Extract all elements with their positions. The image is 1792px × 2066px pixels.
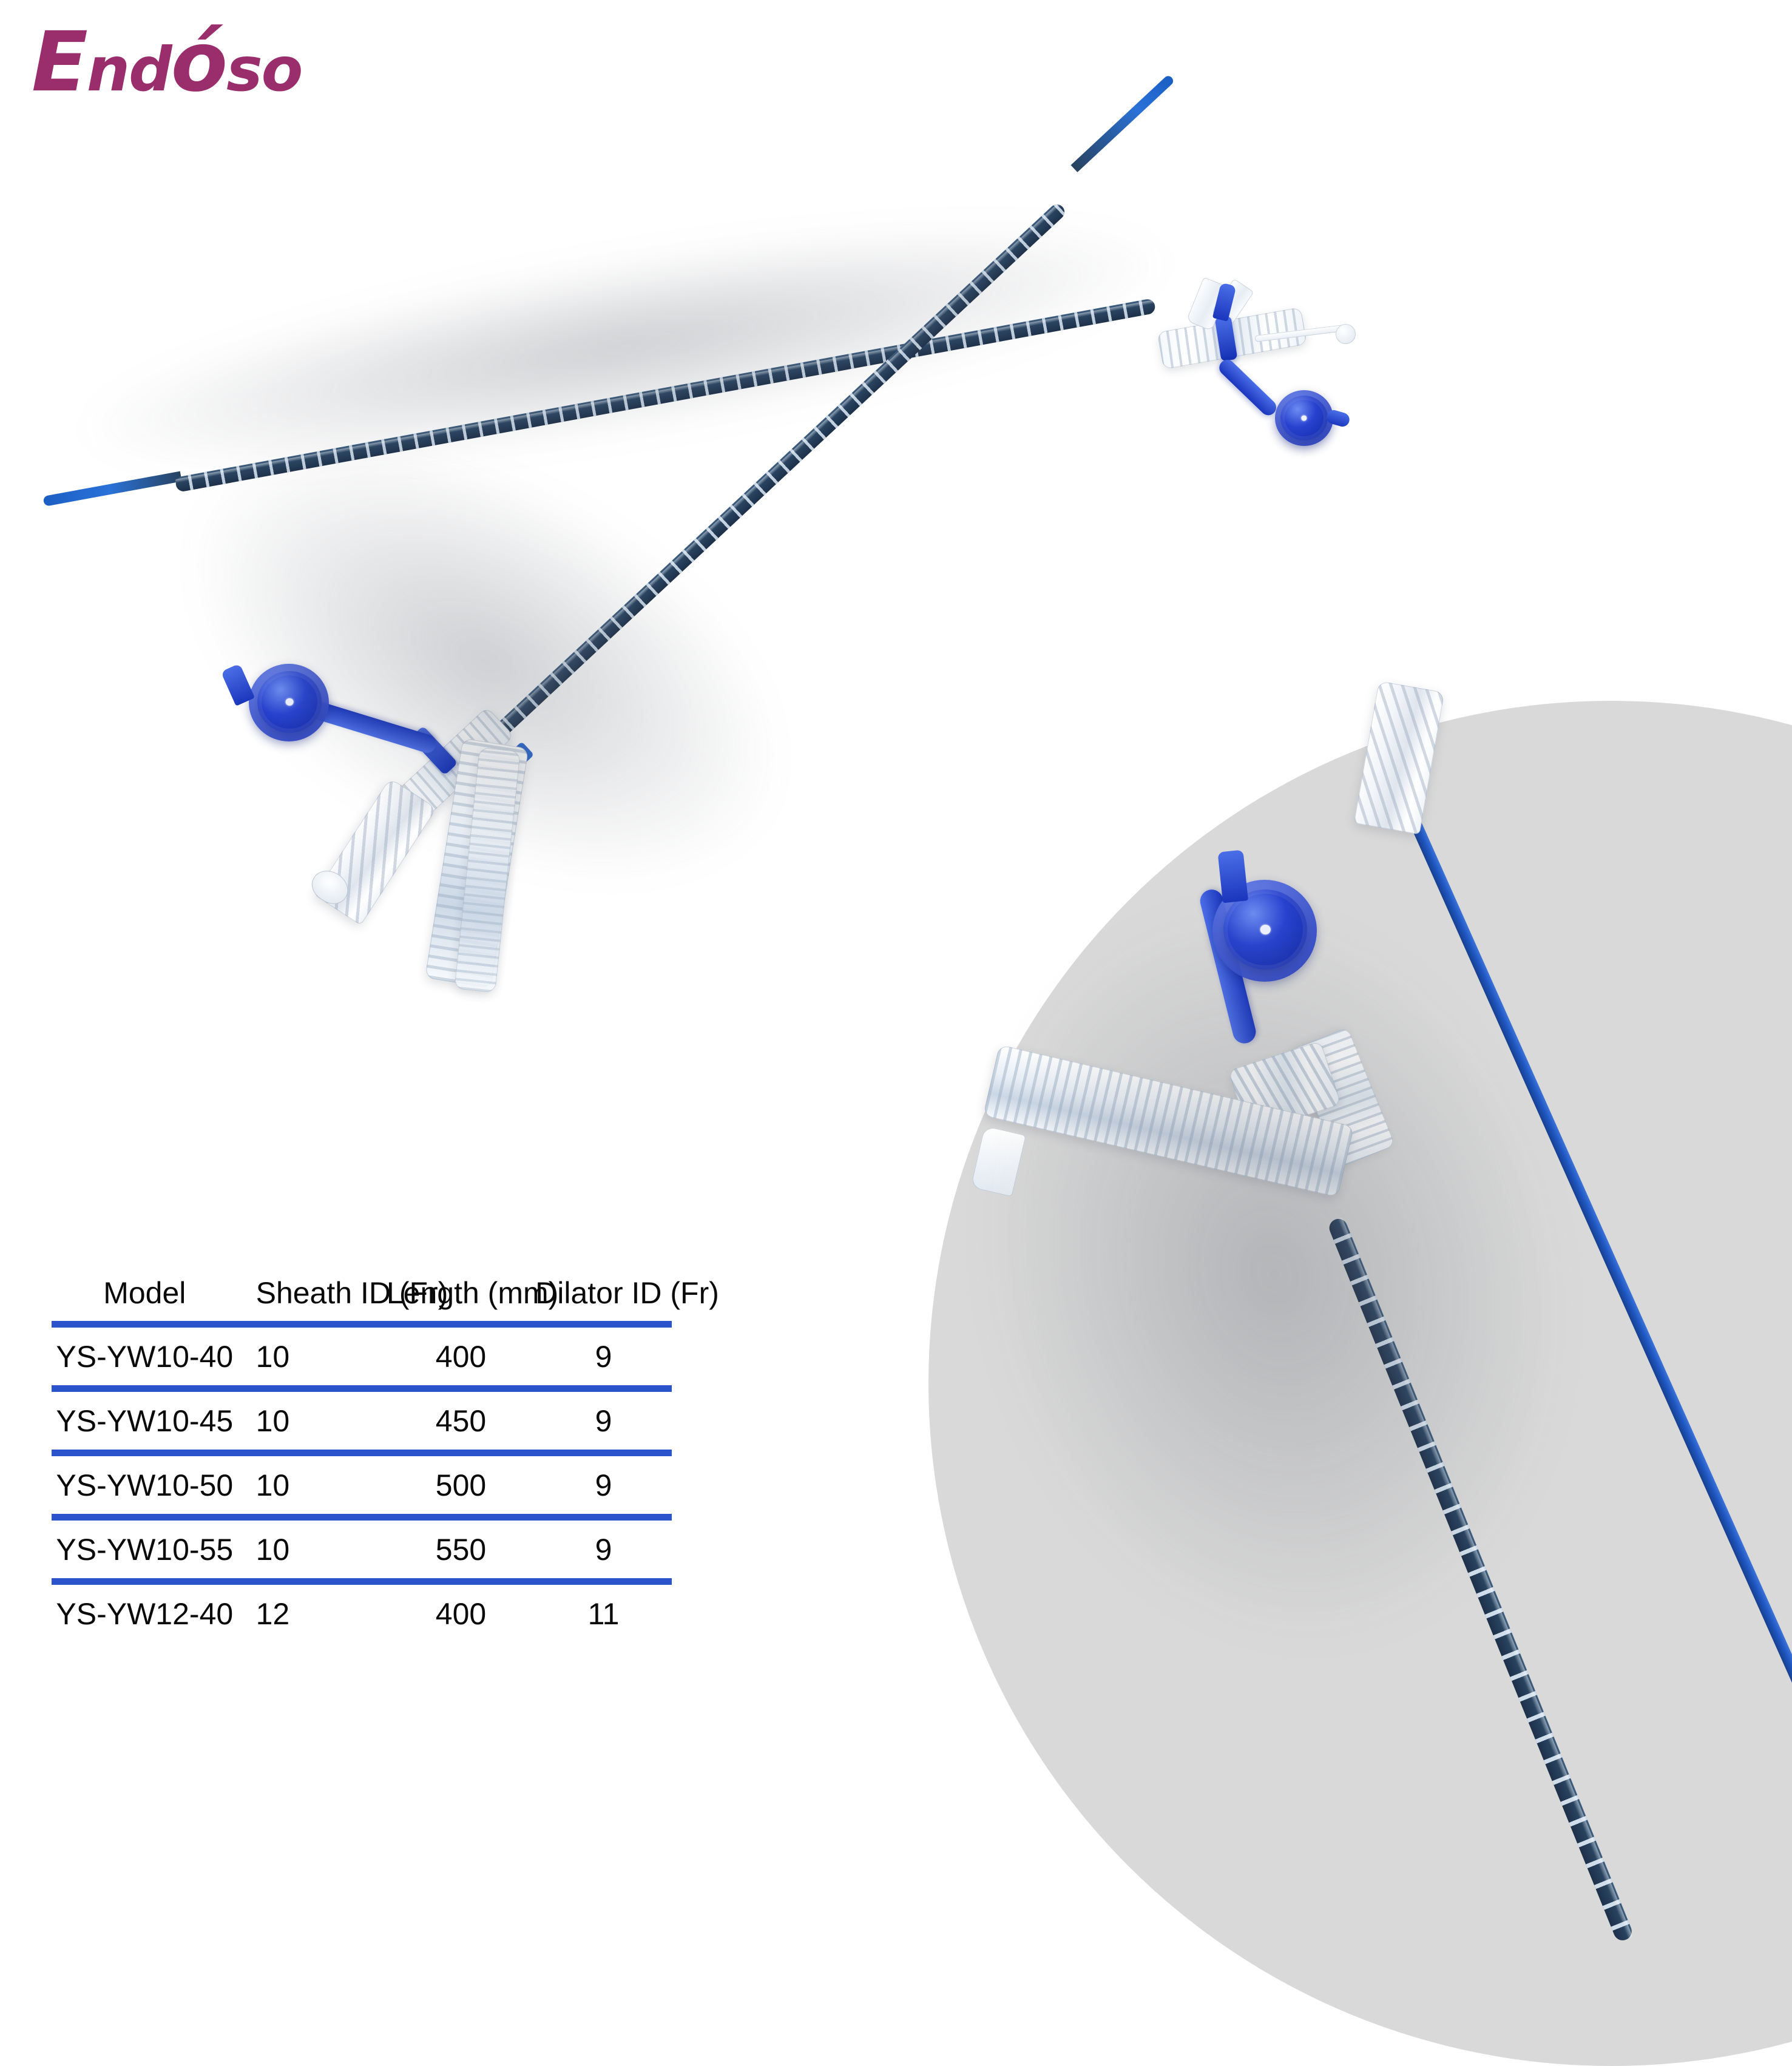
- brand-logo-text: Endóso: [32, 21, 302, 104]
- dilator-plunger-knob-upper: [1336, 324, 1356, 344]
- cell-sheath-id: 12: [238, 1596, 387, 1632]
- table-row: YS-YW10-55 10 550 9: [52, 1521, 672, 1578]
- brand-logo: Endóso: [32, 21, 302, 104]
- table-rule: [52, 1385, 672, 1392]
- table-row: YS-YW12-40 12 400 11: [52, 1585, 672, 1642]
- cell-length: 550: [387, 1532, 535, 1567]
- table-row: YS-YW10-45 10 450 9: [52, 1392, 672, 1450]
- cell-model: YS-YW10-45: [52, 1403, 238, 1439]
- cell-dilator-id: 11: [535, 1596, 672, 1632]
- luer-cap-spiral-right: [1354, 681, 1445, 834]
- logo-letters-nd: nd: [87, 34, 171, 105]
- cell-dilator-id: 9: [535, 1532, 672, 1567]
- cell-sheath-id: 10: [238, 1532, 387, 1567]
- hemostasis-valve-cap-upper[interactable]: [1280, 396, 1328, 441]
- table-header-cell-model: Model: [52, 1275, 238, 1311]
- logo-letter-e: E: [32, 15, 87, 110]
- cell-length: 500: [387, 1468, 535, 1503]
- luer-cap-right: [1354, 681, 1445, 834]
- specification-table: Model Sheath ID (Fr) Length (mm) Dilator…: [52, 1265, 672, 1642]
- cell-dilator-id: 9: [535, 1403, 672, 1439]
- table-rule: [52, 1578, 672, 1585]
- cell-model: YS-YW10-50: [52, 1468, 238, 1503]
- cell-length: 400: [387, 1339, 535, 1374]
- table-rule: [52, 1514, 672, 1521]
- cell-dilator-id: 9: [535, 1339, 672, 1374]
- table-rule: [52, 1321, 672, 1328]
- table-header-cell-dilator-id: Dilator ID (Fr): [535, 1275, 672, 1311]
- table-header-cell-sheath-id: Sheath ID (Fr): [238, 1275, 387, 1311]
- cell-sheath-id: 10: [238, 1468, 387, 1503]
- logo-letter-o-accent: ó: [171, 15, 226, 110]
- table-row: YS-YW10-50 10 500 9: [52, 1456, 672, 1514]
- dilator-tip-lower: [1071, 74, 1175, 172]
- table-header-cell-length: Length (mm): [387, 1275, 535, 1311]
- cell-model: YS-YW12-40: [52, 1596, 238, 1632]
- table-row: YS-YW10-40 10 400 9: [52, 1328, 672, 1385]
- cell-model: YS-YW10-40: [52, 1339, 238, 1374]
- cell-model: YS-YW10-55: [52, 1532, 238, 1567]
- cell-length: 450: [387, 1403, 535, 1439]
- table-rule: [52, 1450, 672, 1456]
- cell-dilator-id: 9: [535, 1468, 672, 1503]
- cell-sheath-id: 10: [238, 1403, 387, 1439]
- shadow-right-assembly: [885, 818, 1665, 1730]
- table-header-row: Model Sheath ID (Fr) Length (mm) Dilator…: [52, 1265, 672, 1321]
- cell-sheath-id: 10: [238, 1339, 387, 1374]
- valve-arm-upper: [1216, 357, 1279, 419]
- logo-letters-so: so: [226, 34, 302, 105]
- cell-length: 400: [387, 1596, 535, 1632]
